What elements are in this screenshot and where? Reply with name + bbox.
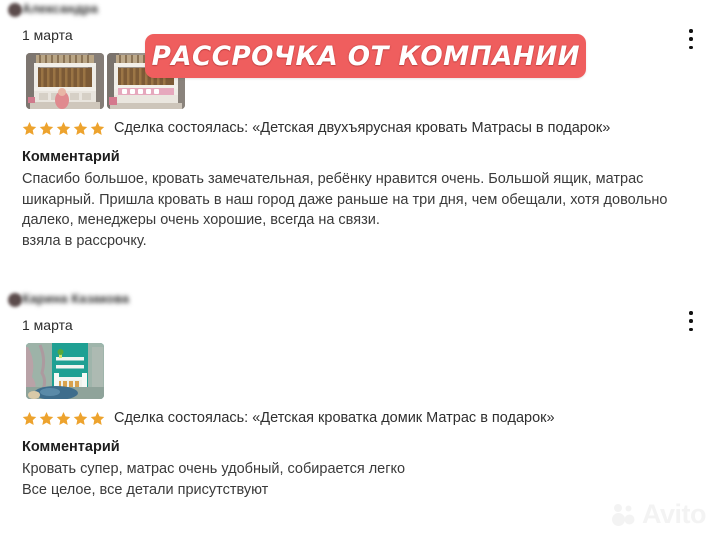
star-icon: [39, 121, 54, 136]
review-options-menu-button[interactable]: [682, 26, 700, 52]
star-icon: [73, 121, 88, 136]
promo-banner: РАССРОЧКА ОТ КОМПАНИИ: [145, 34, 586, 78]
bunk-bed-photo-icon: [26, 53, 104, 109]
review-header: Александра: [0, 0, 720, 22]
kebab-dot-icon: [689, 37, 693, 41]
review-card: Карина Казакова 1 марта: [0, 290, 720, 500]
comment-line: шикарный. Пришла кровать в наш город даж…: [22, 190, 672, 211]
review-photo-gallery: [0, 343, 720, 399]
review-photo-thumbnail[interactable]: [26, 53, 104, 109]
star-icon: [22, 121, 37, 136]
star-icon: [56, 121, 71, 136]
comment-line: Все целое, все детали присутствуют: [22, 480, 672, 501]
star-rating: [22, 121, 105, 136]
comment-heading: Комментарий: [0, 148, 720, 167]
star-icon: [56, 411, 71, 426]
review-header: Карина Казакова: [0, 290, 720, 312]
comment-heading: Комментарий: [0, 438, 720, 457]
comment-line: Спасибо большое, кровать замечательная, …: [22, 169, 672, 190]
comment-text: Кровать супер, матрас очень удобный, соб…: [0, 459, 672, 500]
kebab-dot-icon: [689, 311, 693, 315]
avito-watermark-text: Avito: [642, 501, 706, 528]
star-icon: [90, 411, 105, 426]
review-photo-thumbnail[interactable]: [26, 343, 104, 399]
promo-banner-text: РАССРОЧКА ОТ КОМПАНИИ: [151, 41, 579, 72]
star-icon: [39, 411, 54, 426]
kebab-dot-icon: [689, 328, 693, 332]
star-icon: [22, 411, 37, 426]
deal-status-text: Сделка состоялась: «Детская кроватка дом…: [114, 409, 555, 427]
review-date: 1 марта: [0, 315, 720, 335]
deal-status-text: Сделка состоялась: «Детская двухъярусная…: [114, 119, 610, 137]
kebab-dot-icon: [689, 46, 693, 50]
avito-watermark: Avito: [611, 501, 706, 528]
avatar: [8, 3, 22, 17]
star-icon: [90, 121, 105, 136]
rating-row: Сделка состоялась: «Детская кроватка дом…: [0, 409, 720, 427]
reviews-page: Александра 1 марта: [0, 0, 720, 540]
comment-line: Кровать супер, матрас очень удобный, соб…: [22, 459, 672, 480]
comment-line: далеко, менеджеры очень хорошие, всегда …: [22, 210, 672, 231]
kebab-dot-icon: [689, 319, 693, 323]
author-name: Александра: [22, 0, 98, 19]
review-options-menu-button[interactable]: [682, 308, 700, 334]
kebab-dot-icon: [689, 29, 693, 33]
comment-text: Спасибо большое, кровать замечательная, …: [0, 169, 672, 251]
bedroom-photo-icon: [26, 343, 104, 399]
rating-row: Сделка состоялась: «Детская двухъярусная…: [0, 119, 720, 137]
comment-line: взяла в рассрочку.: [22, 231, 672, 252]
avito-logo-icon: [611, 503, 637, 527]
star-icon: [73, 411, 88, 426]
star-rating: [22, 411, 105, 426]
avatar: [8, 293, 22, 307]
author-name: Карина Казакова: [22, 290, 129, 309]
